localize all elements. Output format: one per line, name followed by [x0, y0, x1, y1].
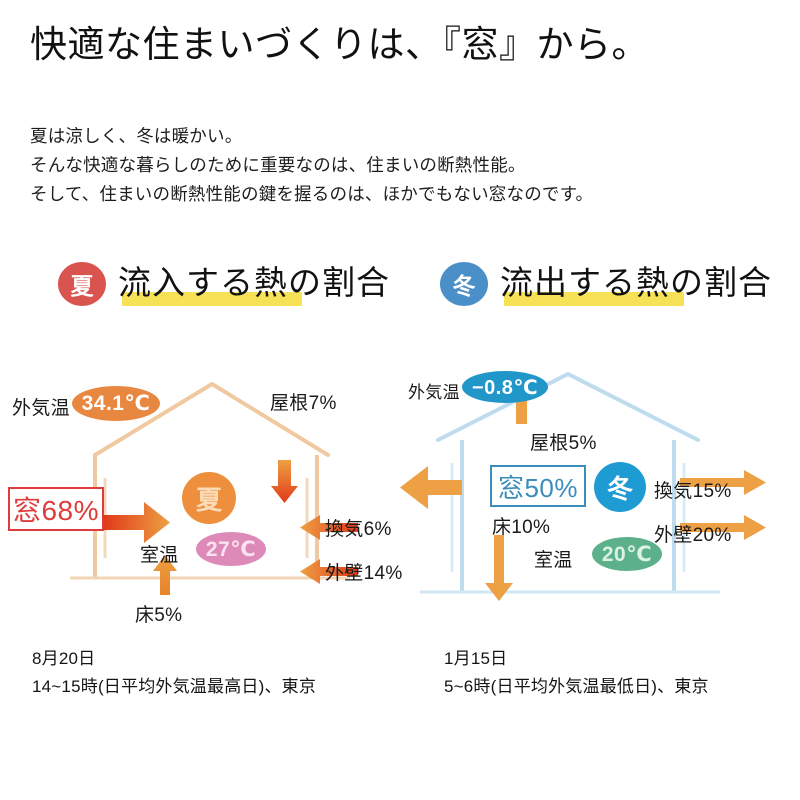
- indoor-temp-value-winter: 20℃: [592, 537, 662, 571]
- outdoor-temp-label-summer: 外気温: [12, 393, 70, 420]
- wall-label-summer: 外壁14%: [325, 558, 403, 585]
- season-badge-winter: 冬: [440, 262, 488, 306]
- indoor-temp-label-summer: 室温: [140, 540, 179, 567]
- section-title-wrap-winter: 流出する熱の割合: [500, 258, 772, 312]
- indoor-temp-value-summer: 27℃: [196, 532, 266, 566]
- window-highlight-summer: 窓68%: [8, 487, 104, 531]
- lead-line: 夏は涼しく、冬は暖かい。: [30, 122, 593, 151]
- caption-line: 1月15日: [444, 645, 709, 673]
- section-title-summer: 流入する熱の割合: [118, 258, 390, 308]
- season-circle-summer: 夏: [182, 472, 236, 524]
- outdoor-temp-value-summer: 34.1℃: [72, 386, 160, 421]
- season-badge-summer: 夏: [58, 262, 106, 306]
- window-highlight-winter: 窓50%: [490, 465, 586, 507]
- ventilation-label-summer: 換気6%: [325, 514, 392, 541]
- roof-label-winter: 屋根5%: [530, 428, 597, 455]
- caption-line: 14~15時(日平均外気温最高日)、東京: [32, 673, 316, 701]
- ventilation-label-winter: 換気15%: [654, 476, 732, 503]
- outdoor-temp-label-winter: 外気温: [408, 378, 460, 403]
- floor-label-summer: 床5%: [135, 600, 182, 627]
- roof-label-summer: 屋根7%: [270, 388, 337, 415]
- lead-line: そして、住まいの断熱性能の鍵を握るのは、ほかでもない窓なのです。: [30, 180, 593, 209]
- caption-line: 8月20日: [32, 645, 316, 673]
- season-circle-winter: 冬: [594, 462, 646, 512]
- infographic-page: 快適な住まいづくりは、『窓』から。 夏は涼しく、冬は暖かい。 そんな快適な暮らし…: [0, 0, 800, 800]
- diagram-summer: 外気温 34.1℃ 屋根7% 窓68% 夏 室温 27℃ 換気6% 外壁14% …: [0, 360, 400, 630]
- page-title: 快適な住まいづくりは、『窓』から。: [30, 22, 649, 68]
- floor-label-winter: 床10%: [492, 512, 550, 539]
- diagram-winter: 外気温 −0.8℃ 屋根5% 窓50% 冬 換気15% 外壁20% 床10% 室…: [400, 360, 800, 630]
- outdoor-temp-value-winter: −0.8℃: [462, 371, 548, 403]
- caption-line: 5~6時(日平均外気温最低日)、東京: [444, 673, 709, 701]
- indoor-temp-label-winter: 室温: [534, 545, 573, 572]
- lead-paragraph: 夏は涼しく、冬は暖かい。 そんな快適な暮らしのために重要なのは、住まいの断熱性能…: [30, 122, 593, 209]
- lead-line: そんな快適な暮らしのために重要なのは、住まいの断熱性能。: [30, 151, 593, 180]
- wall-label-winter: 外壁20%: [654, 520, 732, 547]
- caption-summer: 8月20日 14~15時(日平均外気温最高日)、東京: [32, 645, 316, 701]
- section-title-winter: 流出する熱の割合: [500, 258, 772, 308]
- caption-winter: 1月15日 5~6時(日平均外気温最低日)、東京: [444, 645, 709, 701]
- section-title-wrap-summer: 流入する熱の割合: [118, 258, 390, 312]
